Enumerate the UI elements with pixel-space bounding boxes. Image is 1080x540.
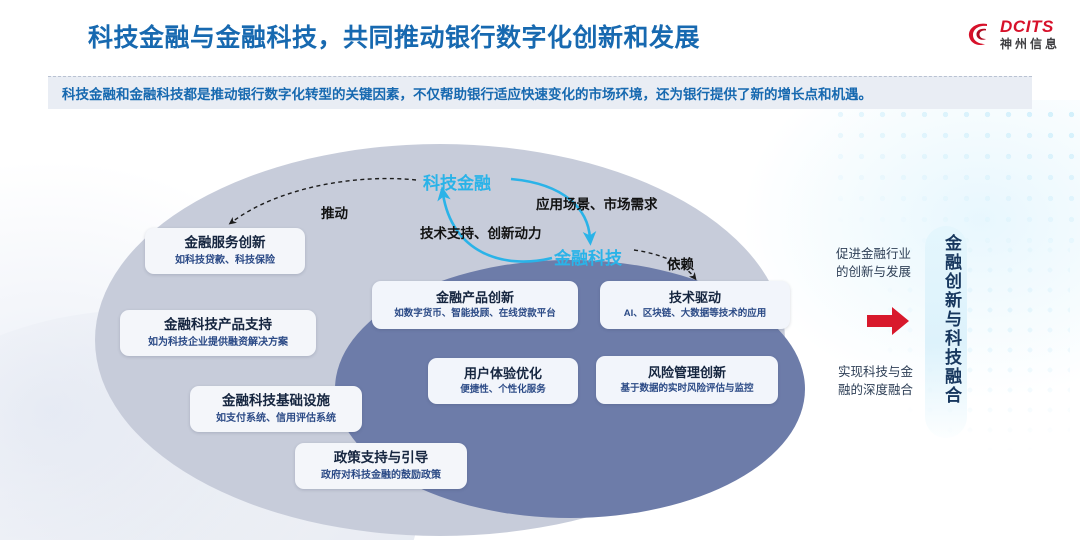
card-subtitle: 基于数据的实时风险评估与监控 [620, 383, 753, 395]
card-subtitle: 如科技贷款、科技保险 [175, 254, 275, 267]
right-panel-bottom-text: 实现科技与金 融的深度融合 [838, 363, 913, 399]
card-policy-support[interactable]: 政策支持与引导 政府对科技金融的鼓励政策 [295, 443, 467, 489]
diagram-canvas: 科技金融 金融科技 推动 应用场景、市场需求 技术支持、创新动力 依赖 金融服务… [0, 118, 1080, 540]
card-risk-management-innovation[interactable]: 风险管理创新 基于数据的实时风险评估与监控 [596, 356, 778, 404]
card-subtitle: AI、区块链、大数据等技术的应用 [624, 308, 767, 320]
card-subtitle: 如为科技企业提供融资解决方案 [148, 336, 288, 349]
card-user-experience-optimization[interactable]: 用户体验优化 便捷性、个性化服务 [428, 358, 578, 404]
dcits-swirl-logo-icon [967, 20, 993, 48]
brand-logo: DCITS 神州信息 [967, 18, 1060, 50]
card-subtitle: 如数字货币、智能投顾、在线贷款平台 [394, 308, 556, 320]
card-subtitle: 政府对科技金融的鼓励政策 [321, 469, 441, 482]
card-fintech-product-support[interactable]: 金融科技产品支持 如为科技企业提供融资解决方案 [120, 310, 316, 356]
card-technology-driven[interactable]: 技术驱动 AI、区块链、大数据等技术的应用 [600, 281, 790, 329]
card-title: 金融产品创新 [436, 290, 514, 306]
connector-label-drive: 推动 [321, 202, 348, 222]
card-title: 金融服务创新 [185, 235, 266, 252]
card-title: 用户体验优化 [464, 366, 542, 382]
logo-english: DCITS [1000, 18, 1060, 35]
card-title: 技术驱动 [669, 290, 721, 306]
card-title: 金融科技基础设施 [222, 393, 330, 410]
subtitle-band: 科技金融和金融科技都是推动银行数字化转型的关键因素，不仅帮助银行适应快速变化的市… [48, 76, 1032, 109]
core-label-fintech: 金融科技 [554, 244, 622, 269]
card-financial-service-innovation[interactable]: 金融服务创新 如科技贷款、科技保险 [145, 228, 305, 274]
connector-label-depend: 依赖 [667, 253, 694, 273]
page-title: 科技金融与金融科技，共同推动银行数字化创新和发展 [88, 18, 700, 54]
card-title: 政策支持与引导 [334, 450, 429, 467]
right-panel-top-text: 促进金融行业 的创新与发展 [836, 245, 911, 281]
slide-root: 科技金融与金融科技，共同推动银行数字化创新和发展 DCITS 神州信息 科技金融… [0, 0, 1080, 540]
card-fintech-infrastructure[interactable]: 金融科技基础设施 如支付系统、信用评估系统 [190, 386, 362, 432]
core-label-tech-finance: 科技金融 [423, 169, 491, 194]
connector-label-application: 应用场景、市场需求 [536, 193, 658, 213]
card-financial-product-innovation[interactable]: 金融产品创新 如数字货币、智能投顾、在线贷款平台 [372, 281, 578, 329]
card-title: 风险管理创新 [648, 365, 726, 381]
logo-chinese: 神州信息 [1000, 38, 1060, 50]
card-subtitle: 如支付系统、信用评估系统 [216, 412, 336, 425]
subtitle-text: 科技金融和金融科技都是推动银行数字化转型的关键因素，不仅帮助银行适应快速变化的市… [48, 83, 872, 103]
right-arrow-icon [865, 304, 911, 338]
connector-label-support: 技术支持、创新动力 [420, 222, 542, 242]
card-title: 金融科技产品支持 [164, 317, 272, 334]
logo-text-block: DCITS 神州信息 [1000, 18, 1060, 50]
vertical-label-fusion: 金融创新与科技融合 [928, 234, 964, 405]
card-subtitle: 便捷性、个性化服务 [460, 384, 546, 396]
